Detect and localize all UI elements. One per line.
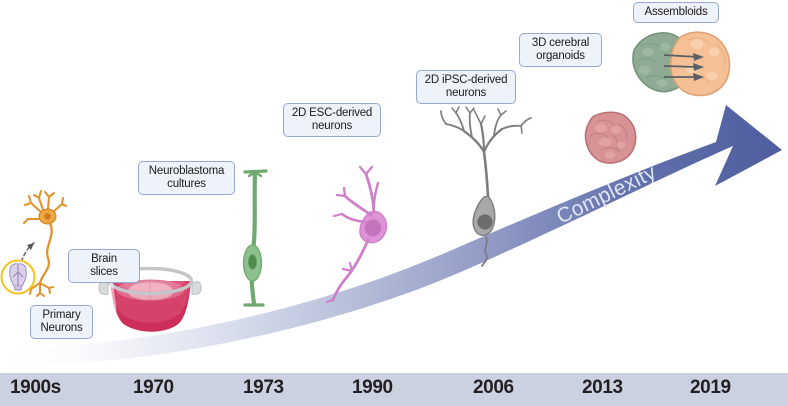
- neuroblastoma-cell-icon: [244, 171, 267, 305]
- label-ipsc-derived-neurons[interactable]: 2D iPSC-derived neurons: [416, 70, 516, 104]
- year-tick-1973: 1973: [243, 377, 284, 399]
- year-tick-1900s: 1900s: [10, 377, 61, 399]
- illustrations-layer: [0, 0, 788, 406]
- brain-icon: [10, 264, 27, 290]
- year-tick-1990: 1990: [352, 377, 393, 399]
- label-assembloids[interactable]: Assembloids: [633, 2, 719, 23]
- year-tick-1970: 1970: [133, 377, 174, 399]
- primary-neuron-icon: [2, 191, 67, 296]
- label-brain-slices[interactable]: Brain slices: [68, 249, 140, 283]
- esc-neuron-icon: [327, 167, 386, 302]
- complexity-axis-label: Complexity: [553, 161, 660, 230]
- assembloid-icon: [633, 32, 730, 95]
- label-neuroblastoma-cultures[interactable]: Neuroblastoma cultures: [138, 161, 235, 195]
- label-cerebral-organoids[interactable]: 3D cerebral organoids: [519, 33, 602, 67]
- label-primary-neurons[interactable]: Primary Neurons: [30, 305, 93, 339]
- year-tick-2013: 2013: [582, 377, 623, 399]
- year-tick-2006: 2006: [473, 377, 514, 399]
- migration-arrows: [664, 55, 698, 77]
- figure-canvas: Complexity: [0, 0, 788, 406]
- organoid-icon: [585, 112, 635, 163]
- ipsc-neuron-icon: [441, 107, 531, 266]
- timeline-band: [0, 373, 788, 406]
- year-tick-2019: 2019: [690, 377, 731, 399]
- complexity-arrow: [0, 0, 788, 406]
- label-esc-derived-neurons[interactable]: 2D ESC-derived neurons: [283, 103, 381, 137]
